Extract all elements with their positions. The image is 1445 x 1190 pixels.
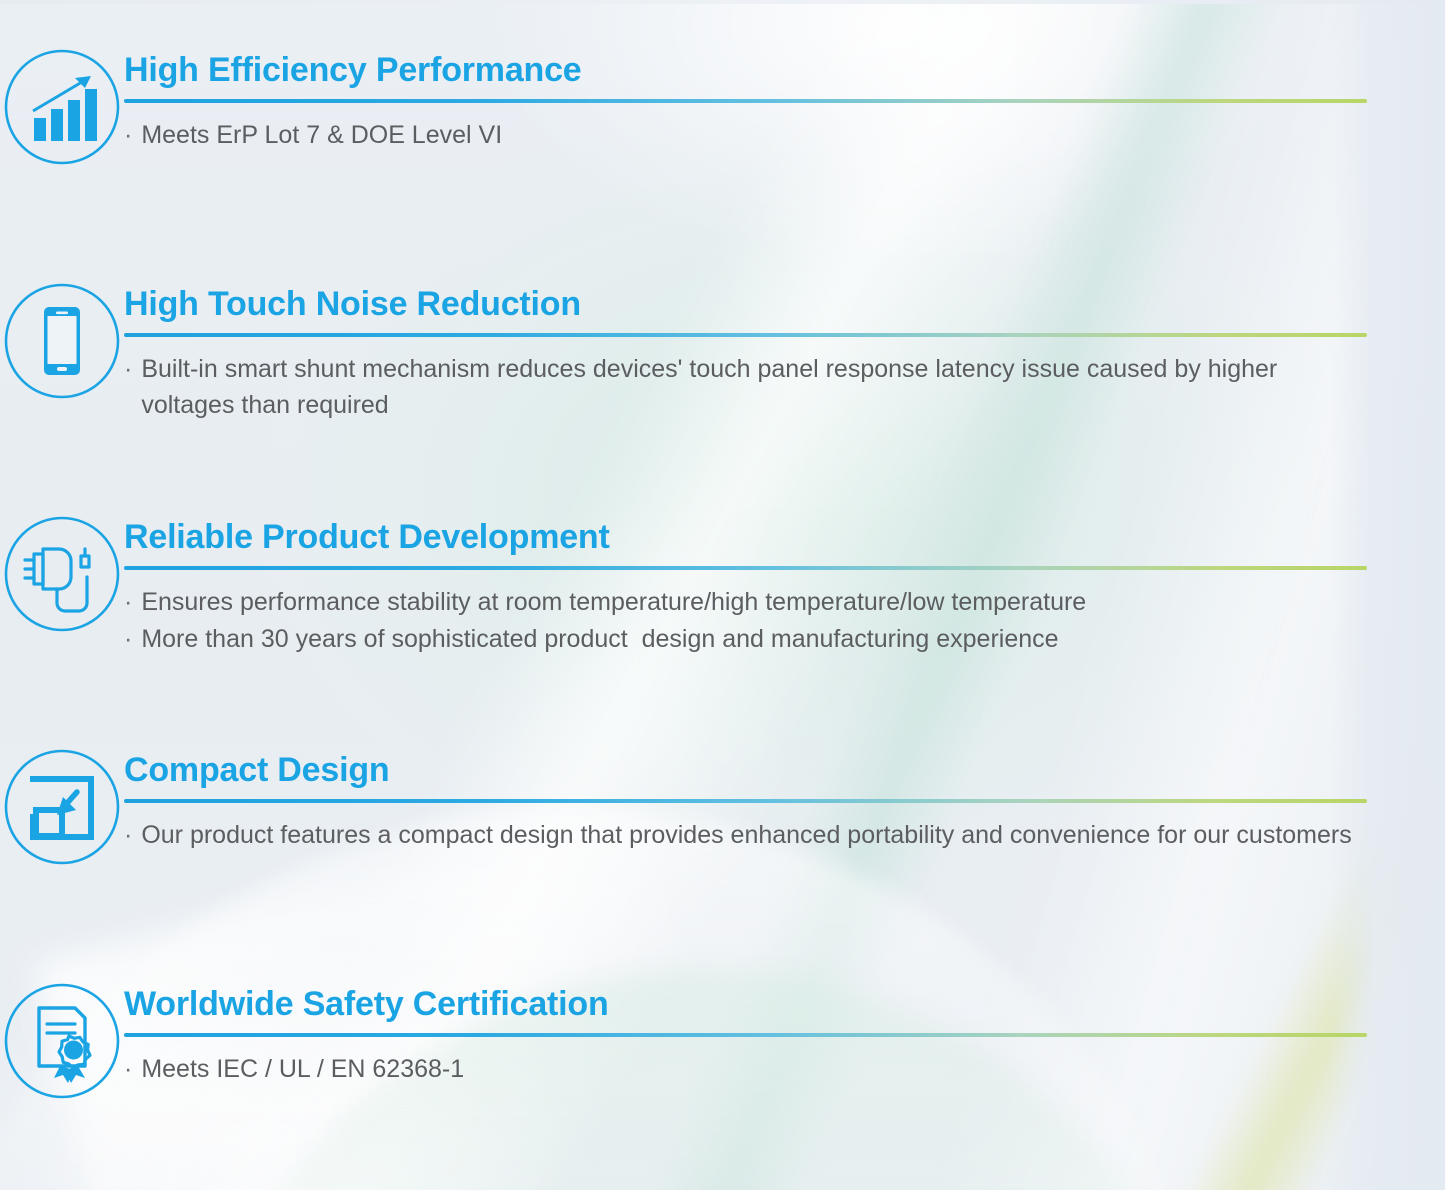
- bullet-marker: ·: [124, 351, 132, 387]
- feature-list-page: High Efficiency Performance · Meets ErP …: [0, 0, 1445, 1190]
- feature-icon-wrap: [0, 748, 124, 866]
- bullet-item: · Built-in smart shunt mechanism reduces…: [124, 351, 1367, 423]
- bullet-marker: ·: [124, 817, 132, 853]
- bar-chart-growth-icon: [3, 48, 121, 166]
- feature-divider: [124, 333, 1367, 337]
- feature-bullets: · Meets ErP Lot 7 & DOE Level VI: [124, 117, 1367, 153]
- feature-item: High Touch Noise Reduction · Built-in sm…: [0, 282, 1445, 424]
- bullet-item: · Ensures performance stability at room …: [124, 584, 1367, 620]
- smartphone-icon: [3, 282, 121, 400]
- certificate-award-icon: [3, 982, 121, 1100]
- compact-resize-icon: [3, 748, 121, 866]
- feature-title: Worldwide Safety Certification: [124, 986, 1367, 1023]
- feature-bullets: · Our product features a compact design …: [124, 817, 1367, 853]
- bullet-text: Meets ErP Lot 7 & DOE Level VI: [141, 117, 1367, 153]
- feature-icon-wrap: [0, 48, 124, 166]
- bullet-marker: ·: [124, 584, 132, 620]
- bullet-text: Our product features a compact design th…: [141, 817, 1367, 853]
- feature-icon-wrap: [0, 515, 124, 633]
- bullet-item: · Meets ErP Lot 7 & DOE Level VI: [124, 117, 1367, 153]
- feature-body: Reliable Product Development · Ensures p…: [124, 515, 1445, 658]
- bullet-marker: ·: [124, 117, 132, 153]
- bullet-item: · More than 30 years of sophisticated pr…: [124, 621, 1367, 657]
- bullet-text: More than 30 years of sophisticated prod…: [141, 621, 1367, 657]
- feature-divider: [124, 799, 1367, 803]
- feature-title: High Efficiency Performance: [124, 52, 1367, 89]
- feature-divider: [124, 566, 1367, 570]
- bullet-text: Meets IEC / UL / EN 62368-1: [141, 1051, 1367, 1087]
- feature-title: Compact Design: [124, 752, 1367, 789]
- bullet-item: · Our product features a compact design …: [124, 817, 1367, 853]
- feature-divider: [124, 99, 1367, 103]
- bullet-text: Built-in smart shunt mechanism reduces d…: [141, 351, 1367, 423]
- bullet-marker: ·: [124, 1051, 132, 1087]
- feature-body: High Touch Noise Reduction · Built-in sm…: [124, 282, 1445, 424]
- feature-body: Compact Design · Our product features a …: [124, 748, 1445, 854]
- feature-item: Compact Design · Our product features a …: [0, 748, 1445, 866]
- feature-item: High Efficiency Performance · Meets ErP …: [0, 48, 1445, 166]
- feature-icon-wrap: [0, 282, 124, 400]
- feature-item: Reliable Product Development · Ensures p…: [0, 515, 1445, 658]
- bullet-item: · Meets IEC / UL / EN 62368-1: [124, 1051, 1367, 1087]
- feature-body: High Efficiency Performance · Meets ErP …: [124, 48, 1445, 154]
- feature-title: High Touch Noise Reduction: [124, 286, 1367, 323]
- feature-body: Worldwide Safety Certification · Meets I…: [124, 982, 1445, 1088]
- background-top-edge: [0, 0, 1445, 4]
- feature-icon-wrap: [0, 982, 124, 1100]
- feature-bullets: · Meets IEC / UL / EN 62368-1: [124, 1051, 1367, 1087]
- feature-title: Reliable Product Development: [124, 519, 1367, 556]
- feature-item: Worldwide Safety Certification · Meets I…: [0, 982, 1445, 1100]
- bullet-text: Ensures performance stability at room te…: [141, 584, 1367, 620]
- feature-divider: [124, 1033, 1367, 1037]
- feature-bullets: · Built-in smart shunt mechanism reduces…: [124, 351, 1367, 423]
- power-adapter-icon: [3, 515, 121, 633]
- feature-bullets: · Ensures performance stability at room …: [124, 584, 1367, 657]
- bullet-marker: ·: [124, 621, 132, 657]
